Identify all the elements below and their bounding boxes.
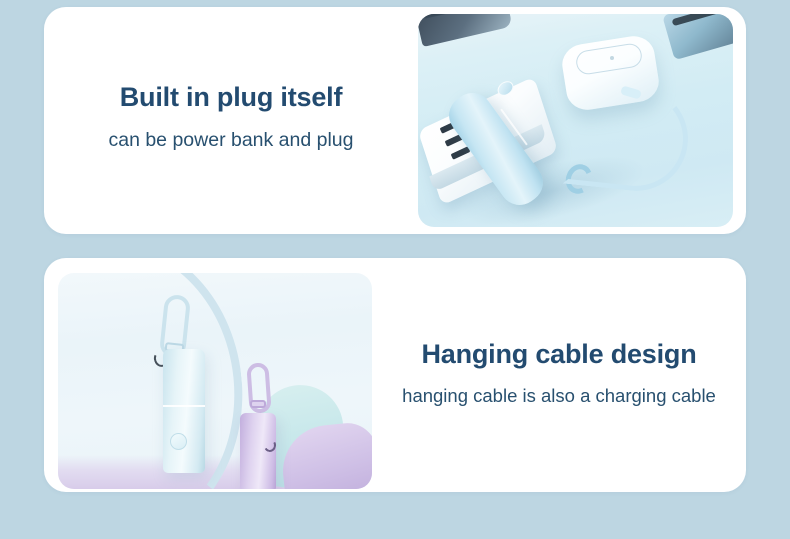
charging-cable [563,80,693,196]
power-bank-blue [163,349,205,473]
feature-image-hanging-cable [58,273,372,489]
power-bank-blue-seam [163,405,205,407]
hanging-cable-arc [58,273,257,489]
earbuds-case-indicator [610,56,614,60]
feature-text-block: Hanging cable design hanging cable is al… [372,258,746,492]
tablet-edge-prop [418,14,513,47]
feature-card-hanging-cable: Hanging cable design hanging cable is al… [44,258,746,492]
feature-subtitle: can be power bank and plug [108,129,353,152]
phone-edge-prop [662,14,733,60]
feature-card-built-in-plug: Built in plug itself can be power bank a… [44,7,746,234]
feature-title: Hanging cable design [421,339,696,370]
feature-image-built-in-plug [418,14,733,227]
feature-subtitle: hanging cable is also a charging cable [402,385,716,407]
product-feature-banner: Built in plug itself can be power bank a… [0,0,790,539]
cable-cinch-purple [250,400,266,408]
product-photo-scene [58,273,372,489]
power-bank-blue-button [170,433,187,450]
feature-text-block: Built in plug itself can be power bank a… [44,7,418,234]
product-photo-scene [418,14,733,227]
feature-title: Built in plug itself [120,82,342,113]
